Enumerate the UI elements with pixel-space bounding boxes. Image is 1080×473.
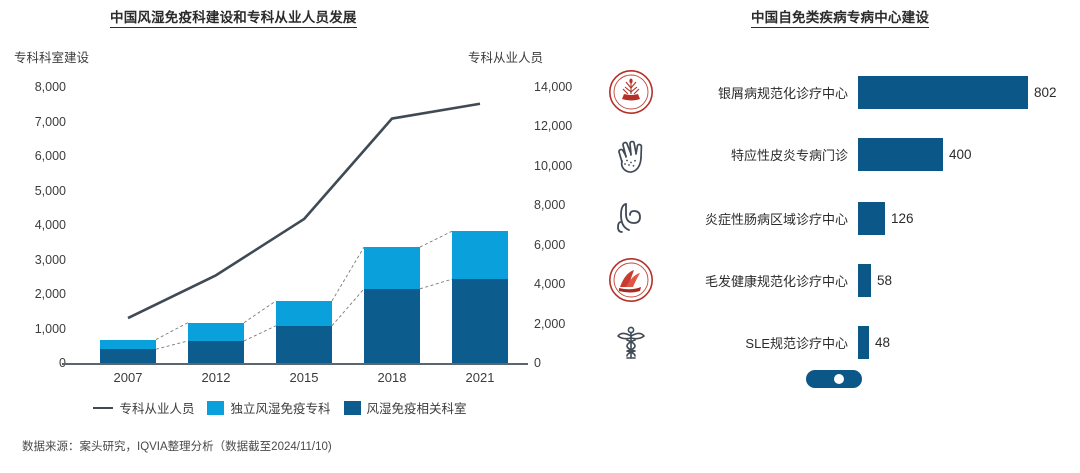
square-swatch-light-icon [207, 401, 224, 415]
combo-chart-plot-area: 8,000 7,000 6,000 5,000 4,000 3,000 2,00… [0, 0, 600, 400]
square-swatch-dark-icon [344, 401, 361, 415]
right-panel-title-text: 中国自免类疾病专病中心建设 [751, 10, 929, 28]
stacked-bar-2018 [364, 0, 420, 363]
list-item[interactable]: 银屑病规范化诊疗中心 802 [600, 64, 1080, 120]
toggle-pill-icon[interactable] [806, 370, 862, 388]
list-item[interactable]: 特应性皮炎专病门诊 400 [600, 126, 1080, 182]
list-item[interactable]: 炎症性肠病区域诊疗中心 126 [600, 190, 1080, 246]
list-item[interactable]: 毛发健康规范化诊疗中心 58 [600, 252, 1080, 308]
list-item-label: 毛发健康规范化诊疗中心 [662, 271, 858, 290]
value-bar [858, 202, 885, 235]
x-axis-baseline [62, 363, 528, 365]
bar-segment-related-dept [452, 279, 508, 363]
chart-legend: 专科从业人员 独立风湿免疫专科 风湿免疫相关科室 [0, 398, 560, 417]
bar-cell: 126 [858, 190, 1080, 246]
stacked-bar-2021 [452, 0, 508, 363]
x-tick-2015: 2015 [264, 370, 344, 385]
value-bar [858, 326, 869, 359]
stomach-icon [600, 190, 662, 246]
bar-segment-related-dept [188, 341, 244, 363]
value-bar [858, 138, 943, 171]
value-label: 802 [1034, 85, 1057, 100]
list-item-label: 银屑病规范化诊疗中心 [662, 83, 858, 102]
bar-segment-independent-dept [452, 231, 508, 279]
stacked-bar-2007 [100, 0, 156, 363]
list-item[interactable]: SLE规范诊疗中心 48 [600, 314, 1080, 370]
x-tick-2012: 2012 [176, 370, 256, 385]
line-swatch-icon [93, 407, 113, 409]
bar-cell: 58 [858, 252, 1080, 308]
bar-segment-independent-dept [100, 340, 156, 350]
hand-rash-icon [600, 126, 662, 182]
bar-cell: 802 [858, 64, 1080, 120]
list-item-label: 特应性皮炎专病门诊 [662, 145, 858, 164]
right-panel-title: 中国自免类疾病专病中心建设 [600, 6, 1080, 26]
legend-label: 专科从业人员 [119, 398, 194, 417]
bar-segment-related-dept [100, 349, 156, 363]
stacked-bar-2015 [276, 0, 332, 363]
psoriasis-seal-icon [600, 64, 662, 120]
legend-label: 风湿免疫相关科室 [367, 398, 467, 417]
value-label: 48 [875, 335, 890, 350]
legend-item-independent-dept[interactable]: 独立风湿免疫专科 [207, 398, 330, 417]
legend-item-related-dept[interactable]: 风湿免疫相关科室 [344, 398, 467, 417]
bar-segment-related-dept [364, 289, 420, 363]
value-label: 58 [877, 273, 892, 288]
bar-segment-related-dept [276, 326, 332, 363]
legend-label: 独立风湿免疫专科 [230, 398, 330, 417]
hair-care-seal-icon [600, 252, 662, 308]
value-label: 400 [949, 147, 972, 162]
x-tick-2021: 2021 [440, 370, 520, 385]
caduceus-icon [600, 314, 662, 370]
list-item-label: 炎症性肠病区域诊疗中心 [662, 209, 858, 228]
value-bar [858, 264, 871, 297]
value-bar [858, 76, 1028, 109]
bar-cell: 48 [858, 314, 1080, 370]
right-chart-panel: 中国自免类疾病专病中心建设 银屑病规范化诊疗中心 802 [600, 0, 1080, 473]
stacked-bar-2012 [188, 0, 244, 363]
source-note: 数据来源：案头研究，IQVIA整理分析（数据截至2024/11/10) [22, 438, 332, 454]
x-tick-2007: 2007 [88, 370, 168, 385]
left-chart-panel: 中国风湿免疫科建设和专科从业人员发展 专科科室建设 专科从业人员 8,000 7… [0, 0, 600, 473]
bar-segment-independent-dept [188, 323, 244, 341]
value-label: 126 [891, 211, 914, 226]
bar-segment-independent-dept [364, 247, 420, 289]
bar-cell: 400 [858, 126, 1080, 182]
list-item-label: SLE规范诊疗中心 [662, 333, 858, 352]
legend-item-practitioners[interactable]: 专科从业人员 [93, 398, 194, 417]
toggle-knob [834, 374, 844, 384]
bar-segment-independent-dept [276, 301, 332, 326]
x-tick-2018: 2018 [352, 370, 432, 385]
